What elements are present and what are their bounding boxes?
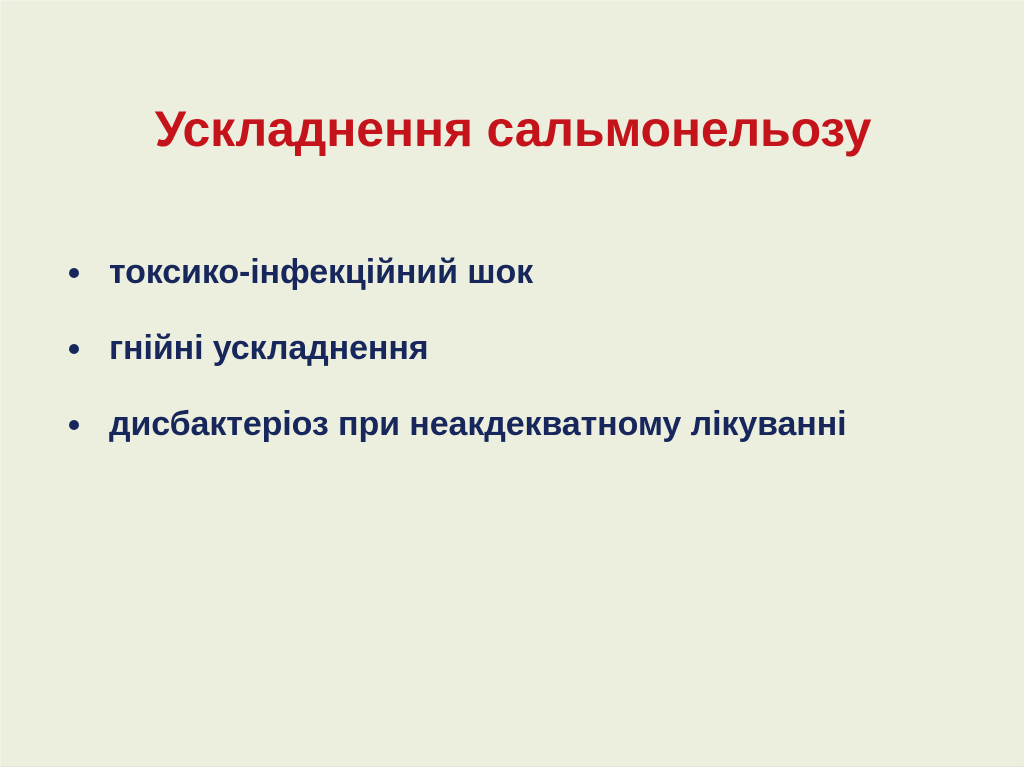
list-item-label: токсико-інфекційний шок [109, 249, 854, 296]
list-item-label: гнійні ускладнення [109, 325, 854, 372]
bullet-list: токсико-інфекційний шок гнійні ускладнен… [61, 249, 941, 448]
bullet-dot-icon [69, 344, 79, 354]
bullet-dot-icon [69, 420, 79, 430]
page-title: Ускладнення сальмонельозу [1, 100, 1024, 158]
bullet-dot-icon [69, 268, 79, 278]
presentation-slide: Ускладнення сальмонельозу токсико-інфекц… [0, 0, 1024, 767]
list-item-label: дисбактеріоз при неакдекватному лікуванн… [109, 401, 854, 448]
list-item: гнійні ускладнення [61, 325, 941, 372]
list-item: токсико-інфекційний шок [61, 249, 941, 296]
list-item: дисбактеріоз при неакдекватному лікуванн… [61, 401, 941, 448]
